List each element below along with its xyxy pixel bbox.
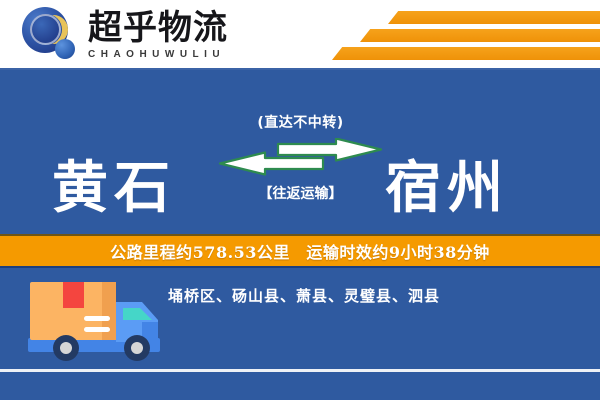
banner-header: 超乎物流 CHAOHUWULIU <box>0 0 600 68</box>
brand-name-cn: 超乎物流 <box>88 9 228 47</box>
stripe-1 <box>388 10 600 24</box>
logistics-route-banner: 超乎物流 CHAOHUWULIU 黄石 (直达不中转) 【往返运输】 <box>0 0 600 400</box>
bidirectional-arrow-icon <box>218 138 383 178</box>
coverage-area: 埇桥区、砀山县、萧县、灵璧县、泗县 <box>0 268 600 400</box>
stripe-2 <box>360 28 600 42</box>
logo-inner-ring-shape <box>30 14 61 45</box>
logo-dot-shape <box>55 39 75 59</box>
origin-city-label: 黄石 <box>52 160 176 216</box>
route-info-bar: 公路里程约578.53公里 运输时效约9小时38分钟 <box>0 234 600 268</box>
stripe-3 <box>332 46 600 60</box>
route-center-block: (直达不中转) 【往返运输】 <box>218 112 383 203</box>
distance-and-duration-text: 公路里程约578.53公里 运输时效约9小时38分钟 <box>110 239 490 263</box>
covered-districts-text: 埇桥区、砀山县、萧县、灵璧县、泗县 <box>168 286 578 306</box>
destination-city-label: 宿州 <box>385 160 509 216</box>
round-trip-note: 【往返运输】 <box>218 183 383 203</box>
brand-name-en: CHAOHUWULIU <box>88 48 228 61</box>
direct-route-note: (直达不中转) <box>218 112 383 132</box>
delivery-truck-illustration-icon <box>24 276 174 371</box>
bottom-divider <box>0 369 600 372</box>
chaohu-logo-mark-icon <box>22 7 78 63</box>
route-panel: 黄石 (直达不中转) 【往返运输】 宿州 <box>0 70 600 232</box>
brand-text-block: 超乎物流 CHAOHUWULIU <box>88 9 228 61</box>
brand-logo: 超乎物流 CHAOHUWULIU <box>22 6 228 64</box>
header-stripes-decoration <box>330 8 600 66</box>
